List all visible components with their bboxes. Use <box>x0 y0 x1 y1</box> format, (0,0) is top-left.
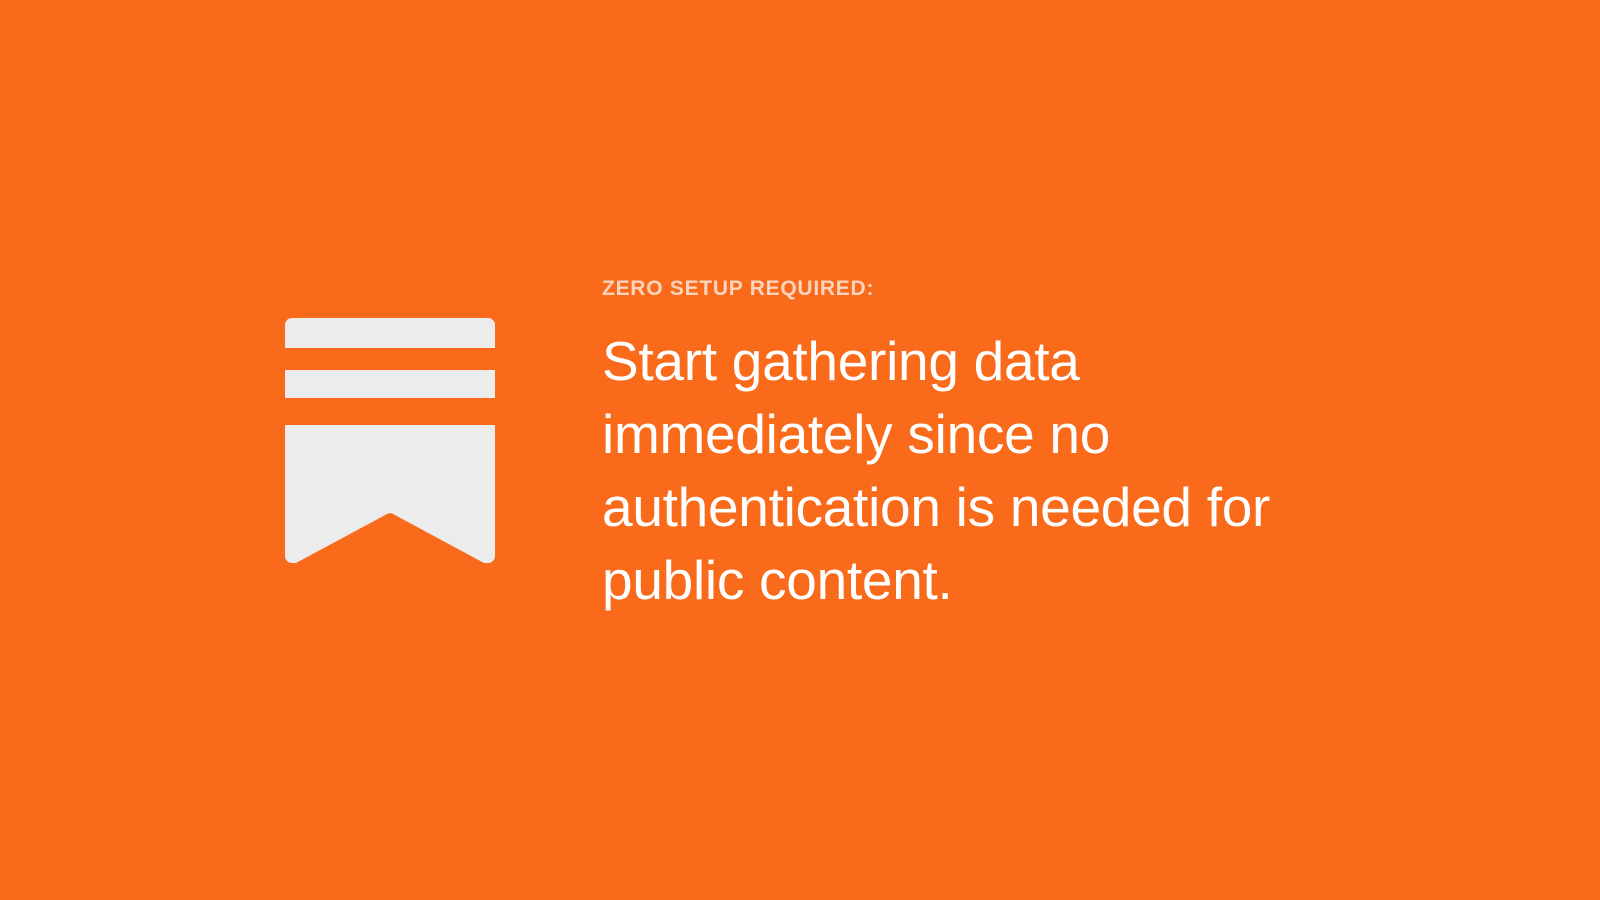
slide-canvas: ZERO SETUP REQUIRED: Start gathering dat… <box>0 0 1600 900</box>
headline-line-1: Start gathering data <box>602 325 1362 398</box>
headline-line-4: public content. <box>602 544 1362 617</box>
text-block: ZERO SETUP REQUIRED: Start gathering dat… <box>602 276 1362 617</box>
headline-line-2: immediately since no <box>602 398 1362 471</box>
eyebrow-label: ZERO SETUP REQUIRED: <box>602 276 1362 301</box>
bookmark-bottom-panel <box>285 425 495 563</box>
bookmark-top-bar <box>285 318 495 348</box>
bookmark-middle-bar <box>285 370 495 398</box>
headline-line-3: authentication is needed for <box>602 471 1362 544</box>
page-title: Start gathering data immediately since n… <box>602 325 1362 617</box>
bookmark-ribbon-icon <box>285 318 495 564</box>
